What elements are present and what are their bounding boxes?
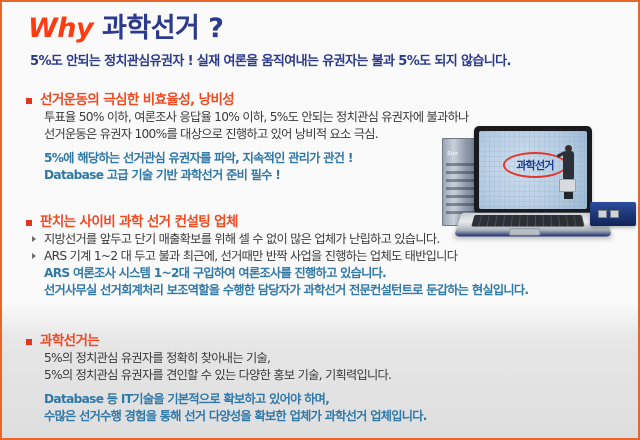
laptop-base	[454, 213, 612, 237]
subtitle: 5%도 안되는 정치관심유권자 ! 실재 여론을 움직여내는 유권자는 불과 5…	[30, 50, 511, 69]
section-3-heading: 과학선거는	[26, 333, 427, 350]
server-logo: Sun	[447, 151, 458, 157]
section-1-heading: 선거운동의 극심한 비효율성, 낭비성	[26, 92, 469, 109]
laptop-keyboard	[471, 215, 584, 227]
section-definition: 과학선거는 5%의 정치관심 유권자를 정확히 찾아내는 기술, 5%의 정치관…	[26, 333, 427, 425]
section-3-body-line: 5%의 정치관심 유권자를 정확히 찾아내는 기술,	[26, 350, 427, 367]
laptop-server-illustration: Sun 과학선거	[430, 124, 638, 246]
square-bullet-icon	[26, 98, 32, 104]
section-1-note-line: Database 고급 기술 기반 과학선거 준비 필수 !	[26, 167, 469, 184]
section-2-note-line: 선거사무실 선거회계처리 보조역할을 수행한 담당자가 과학선거 전문컨설턴트로…	[26, 282, 528, 299]
figure-torso	[563, 151, 574, 179]
section-2-note-line: ARS 여론조사 시스템 1~2대 구입하여 여론조사를 진행하고 있습니다.	[26, 265, 528, 282]
briefcase-icon	[559, 179, 576, 192]
slide-header: Why 과학선거 ? 5%도 안되는 정치관심유권자 ! 실재 여론을 움직여내…	[2, 2, 638, 76]
device-port	[598, 210, 607, 218]
network-device-icon	[590, 202, 636, 226]
section-2-body-line: ARS 기계 1~2 대 두고 불과 최근에, 선거때만 반짝 사업을 진행하는…	[26, 248, 528, 265]
section-1-body-line: 선거운동은 유권자 100%를 대상으로 진행하고 있어 낭비적 요소 극심.	[26, 126, 469, 143]
section-inefficiency: 선거운동의 극심한 비효율성, 낭비성 투표율 50% 이하, 여론조사 응답율…	[26, 92, 469, 184]
title-why: Why	[28, 13, 93, 44]
laptop-screen: 과학선거	[479, 131, 587, 209]
screen-label: 과학선거	[516, 157, 553, 173]
spacer	[26, 143, 469, 150]
slide-container: Why 과학선거 ? 5%도 안되는 정치관심유권자 ! 실재 여론을 움직여내…	[0, 0, 640, 440]
laptop-screen-frame: 과학선거	[474, 126, 592, 214]
section-1-body-line: 투표율 50% 이하, 여론조사 응답율 10% 이하, 5%도 안되는 정치관…	[26, 109, 469, 126]
section-3-body-line: 5%의 정치관심 유권자를 견인할 수 있는 다양한 홍보 기술, 기획력입니다…	[26, 367, 427, 384]
square-bullet-icon	[26, 220, 32, 226]
square-bullet-icon	[26, 339, 32, 345]
spacer	[26, 384, 427, 391]
section-3-note-line: Database 등 IT기술을 기본적으로 확보하고 있어야 하며,	[26, 391, 427, 408]
laptop-touchpad	[509, 228, 541, 235]
section-3-note-line: 수많은 선거수행 경험을 통해 선거 다양성을 확보한 업체가 과학선거 업체입…	[26, 408, 427, 425]
triangle-bullet-icon	[32, 253, 36, 259]
businessman-figure-icon	[561, 145, 577, 201]
triangle-bullet-icon	[32, 236, 36, 242]
section-1-note-line: 5%에 해당하는 선거관심 유권자를 파악, 지속적인 관리가 관건 !	[26, 150, 469, 167]
device-port	[610, 210, 619, 218]
page-title: Why 과학선거 ?	[28, 15, 223, 42]
title-korean: 과학선거 ?	[102, 13, 223, 44]
